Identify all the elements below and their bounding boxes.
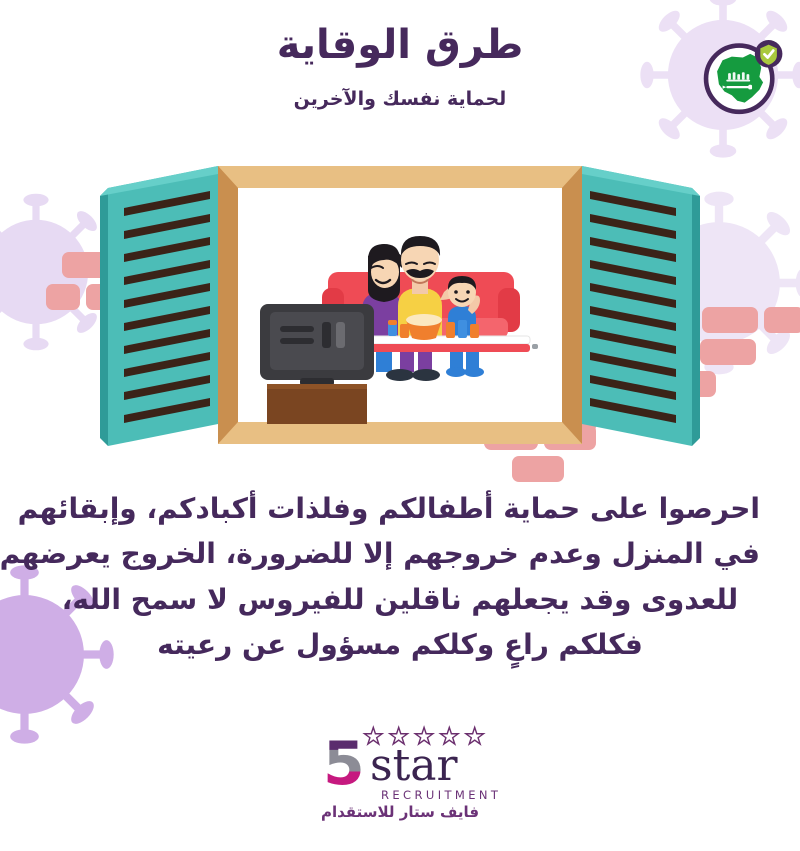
brick-shape: [46, 284, 80, 310]
coffee-table: [354, 336, 538, 352]
star-icon: ★: [464, 726, 485, 749]
poster-canvas: طرق الوقاية لحماية نفسك والآخرين: [0, 0, 800, 851]
body-line-4: فكلكم راعٍ وكلكم مسؤول عن رعيته: [40, 622, 760, 667]
saudi-flag-map-badge: [695, 29, 787, 121]
body-line-1: احرصوا على حماية أطفالكم وفلذات أكبادكم،…: [40, 486, 760, 531]
page-title: طرق الوقاية: [0, 22, 800, 68]
body-line-3: للعدوى وقد يجعلهم ناقلين للفيروس لا سمح …: [40, 577, 760, 622]
brick-shape: [700, 339, 756, 365]
body-line-2: في المنزل وعدم خروجهم إلا للضرورة، الخرو…: [40, 531, 760, 576]
brand-logo[interactable]: ★ ★ ★ ★ ★ 5 star RECRUITMENT فايف ستار ل…: [0, 726, 800, 826]
logo-word-star: star: [370, 744, 458, 788]
poster-header: طرق الوقاية لحماية نفسك والآخرين: [0, 0, 800, 150]
page-subtitle: لحماية نفسك والآخرين: [0, 88, 800, 110]
logo-tagline: RECRUITMENT: [381, 788, 501, 802]
body-paragraph: احرصوا على حماية أطفالكم وفلذات أكبادكم،…: [40, 486, 760, 667]
open-window-illustration: [100, 160, 700, 460]
left-shutter: [100, 166, 218, 446]
television: [260, 304, 374, 424]
logo-arabic-name: فايف ستار للاستقدام: [315, 803, 485, 821]
brick-shape: [764, 307, 800, 333]
logo-number-five: 5: [323, 734, 365, 794]
brick-shape: [702, 307, 758, 333]
right-shutter: [582, 166, 700, 446]
